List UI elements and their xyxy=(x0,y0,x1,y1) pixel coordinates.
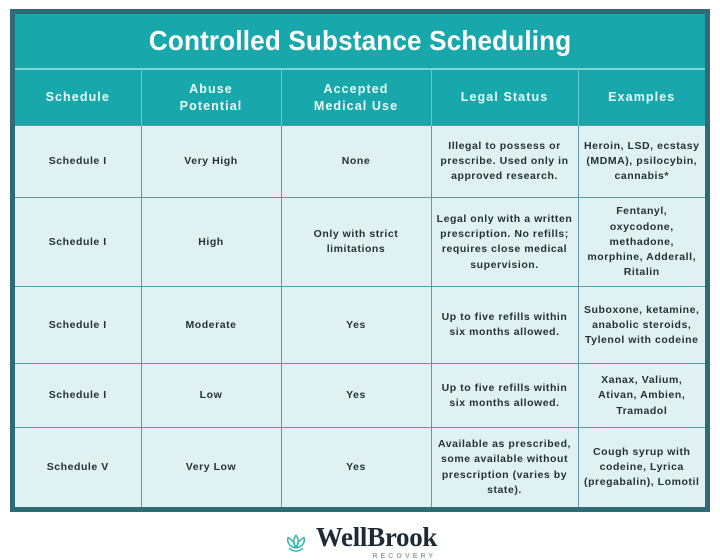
column-header-legal-status: Legal Status xyxy=(431,70,578,126)
cell-accepted-medical-use: None xyxy=(281,126,431,198)
title-banner: Controlled Substance Scheduling xyxy=(15,14,705,70)
column-header-abuse-line2: Potential xyxy=(180,99,243,113)
brand-name: WellBrook xyxy=(316,524,437,551)
controlled-substance-table: Schedule Abuse Potential Accepted Medica… xyxy=(15,70,705,507)
footer-logo: WellBrook RECOVERY xyxy=(283,524,437,560)
column-header-schedule: Schedule xyxy=(15,70,141,126)
cell-accepted-medical-use: Only with strict limitations xyxy=(281,198,431,287)
cell-schedule: Schedule I xyxy=(15,287,141,364)
cell-schedule: Schedule I xyxy=(15,126,141,198)
cell-abuse-potential: Very Low xyxy=(141,428,281,507)
lotus-icon xyxy=(283,531,309,553)
scheduling-table-card: Controlled Substance Scheduling Schedule… xyxy=(10,9,710,512)
brand-tagline: RECOVERY xyxy=(372,553,436,560)
cell-legal-status: Up to five refills within six months all… xyxy=(431,364,578,428)
cell-legal-status: Available as prescribed, some available … xyxy=(431,428,578,507)
column-header-medical-line2: Medical Use xyxy=(314,99,398,113)
table-body: Schedule I Very High None Illegal to pos… xyxy=(15,126,705,507)
column-header-schedule-label: Schedule xyxy=(46,90,110,104)
column-header-accepted-medical-use: Accepted Medical Use xyxy=(281,70,431,126)
infographic-page: Controlled Substance Scheduling Schedule… xyxy=(0,0,720,556)
cell-abuse-potential: High xyxy=(141,198,281,287)
cell-abuse-potential: Moderate xyxy=(141,287,281,364)
column-header-examples: Examples xyxy=(578,70,705,126)
cell-examples: Suboxone, ketamine, anabolic steroids, T… xyxy=(578,287,705,364)
cell-examples: Cough syrup with codeine, Lyrica (pregab… xyxy=(578,428,705,507)
table-row: Schedule I High Only with strict limitat… xyxy=(15,198,705,287)
cell-abuse-potential: Low xyxy=(141,364,281,428)
column-header-abuse-potential: Abuse Potential xyxy=(141,70,281,126)
cell-legal-status: Illegal to possess or prescribe. Used on… xyxy=(431,126,578,198)
brand-lockup: WellBrook RECOVERY xyxy=(316,524,437,560)
cell-schedule: Schedule V xyxy=(15,428,141,507)
cell-accepted-medical-use: Yes xyxy=(281,364,431,428)
cell-legal-status: Legal only with a written prescription. … xyxy=(431,198,578,287)
table-row: Schedule V Very Low Yes Available as pre… xyxy=(15,428,705,507)
cell-abuse-potential: Very High xyxy=(141,126,281,198)
cell-examples: Heroin, LSD, ecstasy (MDMA), psilocybin,… xyxy=(578,126,705,198)
column-header-legal-label: Legal Status xyxy=(461,90,549,104)
cell-schedule: Schedule I xyxy=(15,364,141,428)
cell-examples: Xanax, Valium, Ativan, Ambien, Tramadol xyxy=(578,364,705,428)
cell-legal-status: Up to five refills within six months all… xyxy=(431,287,578,364)
cell-accepted-medical-use: Yes xyxy=(281,428,431,507)
table-header-row: Schedule Abuse Potential Accepted Medica… xyxy=(15,70,705,126)
column-header-examples-label: Examples xyxy=(608,90,675,104)
cell-examples: Fentanyl, oxycodone, methadone, morphine… xyxy=(578,198,705,287)
page-title: Controlled Substance Scheduling xyxy=(149,26,571,57)
column-header-medical-line1: Accepted xyxy=(323,82,388,96)
cell-accepted-medical-use: Yes xyxy=(281,287,431,364)
table-row: Schedule I Low Yes Up to five refills wi… xyxy=(15,364,705,428)
table-row: Schedule I Very High None Illegal to pos… xyxy=(15,126,705,198)
column-header-abuse-line1: Abuse xyxy=(189,82,233,96)
cell-schedule: Schedule I xyxy=(15,198,141,287)
table-row: Schedule I Moderate Yes Up to five refil… xyxy=(15,287,705,364)
table-header: Schedule Abuse Potential Accepted Medica… xyxy=(15,70,705,126)
